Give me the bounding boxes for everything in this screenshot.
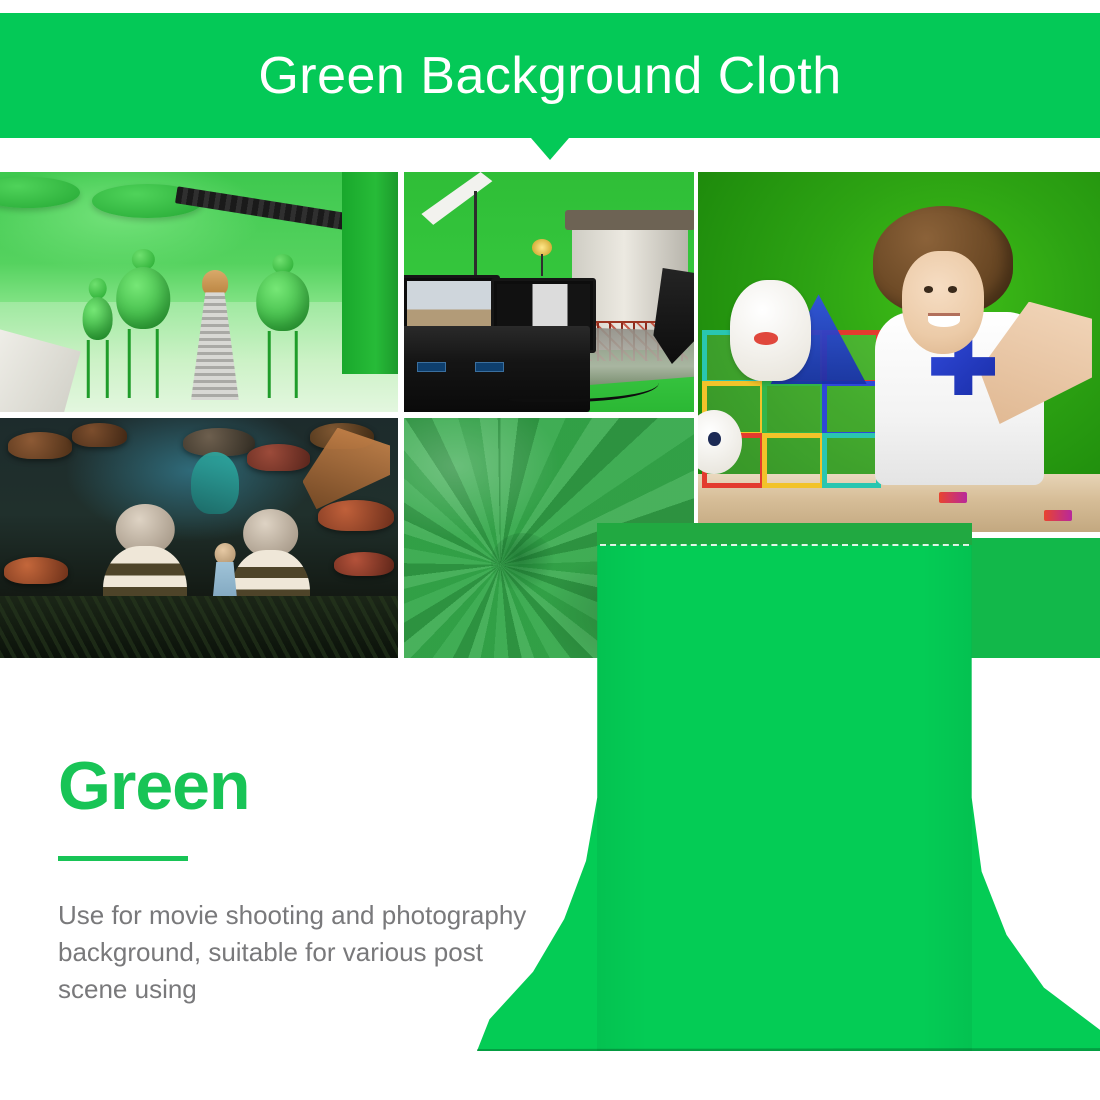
hanging-green-backdrop	[477, 523, 1100, 1051]
triangle-down-icon	[531, 138, 569, 160]
actor-stilt-legs	[86, 340, 108, 398]
actor-belly-costume	[82, 297, 113, 340]
backdrop-header-band	[597, 523, 971, 545]
loose-toy-piece	[939, 492, 967, 503]
backdrop-left-fold	[597, 545, 647, 1051]
rack-led-panel	[475, 362, 504, 372]
actor-stilt-legs	[267, 331, 298, 397]
gallery-item-studio-equipment	[404, 172, 694, 412]
actor-belly-costume	[256, 271, 309, 331]
gallery-item-studio-actors	[0, 172, 398, 412]
blue-creature	[191, 452, 239, 514]
gallery-item-kid-green-screen	[698, 172, 1100, 532]
magnetic-tile	[822, 433, 882, 488]
girl-head	[214, 543, 235, 565]
forest-floor	[0, 596, 398, 658]
costumed-actor	[80, 278, 116, 398]
mushroom-cap	[72, 423, 128, 447]
white-plush-bear	[730, 280, 810, 381]
mushroom-cap	[334, 552, 394, 576]
copy-block: Green Use for movie shooting and photogr…	[58, 752, 528, 1034]
actor-belly-costume	[117, 267, 170, 329]
boy-smile	[928, 313, 959, 326]
costumed-actor	[255, 254, 311, 398]
actor-stilt-legs	[128, 329, 159, 397]
actress-in-gown	[191, 270, 239, 400]
boy-face	[902, 251, 984, 354]
mushroom-cap	[4, 557, 68, 583]
backdrop-right-fold	[922, 545, 972, 1051]
header-banner: Green Background Cloth	[0, 13, 1100, 138]
rack-led-panel	[417, 362, 446, 372]
magnetic-tile	[762, 433, 825, 488]
mushroom-cap	[247, 444, 311, 470]
actress-gown	[191, 292, 239, 400]
boy-eye	[924, 286, 933, 292]
green-pillar	[342, 172, 398, 374]
copy-heading: Green	[58, 752, 528, 820]
backdrop-stitch-line	[600, 544, 968, 546]
copy-body-text: Use for movie shooting and photography b…	[58, 897, 528, 1008]
gallery-item-fantasy-forest	[0, 418, 398, 658]
magnetic-tile	[822, 381, 882, 436]
practical-lamp-icon	[532, 239, 552, 256]
page-title: Green Background Cloth	[258, 50, 841, 102]
costumed-actor	[115, 249, 171, 398]
product-infographic-page: Green Background Cloth	[0, 0, 1100, 1100]
mushroom-cap	[318, 500, 394, 531]
backdrop-cloth-body	[477, 523, 1100, 1051]
mushroom-cap	[8, 432, 72, 458]
copy-underline-rule	[58, 856, 188, 861]
magnetic-tile	[762, 381, 825, 436]
loose-toy-piece	[1044, 510, 1072, 521]
boy-eye	[948, 286, 957, 292]
boy-head	[883, 215, 1004, 366]
